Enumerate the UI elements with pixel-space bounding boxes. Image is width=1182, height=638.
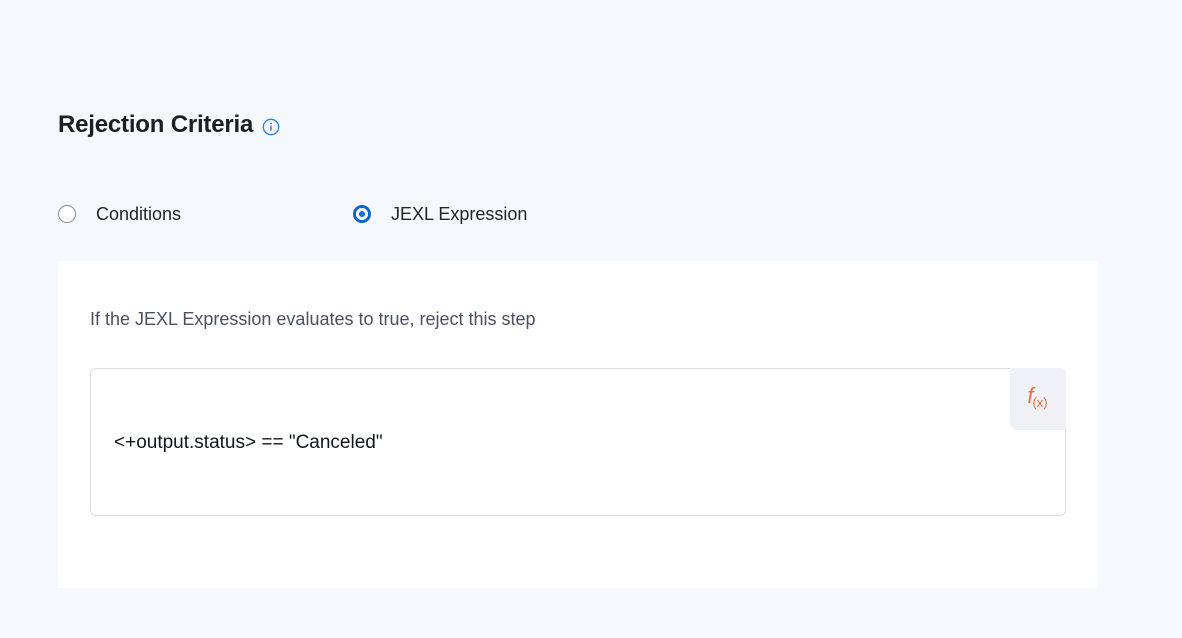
radio-label-conditions: Conditions [96, 198, 181, 230]
radio-label-jexl-expression: JEXL Expression [391, 198, 527, 230]
radio-button-conditions[interactable] [58, 205, 76, 223]
jexl-expression-input[interactable] [90, 368, 1066, 516]
radio-option-jexl-expression[interactable]: JEXL Expression [353, 198, 527, 230]
criteria-type-radio-group: Conditions JEXL Expression [58, 198, 527, 230]
info-circle-icon[interactable] [262, 118, 280, 136]
criteria-card: If the JEXL Expression evaluates to true… [58, 261, 1098, 588]
fx-x-glyph: (x) [1032, 396, 1047, 409]
expression-description: If the JEXL Expression evaluates to true… [90, 306, 536, 332]
radio-button-jexl-expression[interactable] [353, 205, 371, 223]
page-title: Rejection Criteria [58, 108, 253, 142]
expression-field: f(x) [90, 368, 1066, 516]
radio-option-conditions[interactable]: Conditions [58, 198, 353, 230]
section-header: Rejection Criteria [58, 108, 280, 142]
fx-expression-toggle-button[interactable]: f(x) [1010, 368, 1066, 430]
